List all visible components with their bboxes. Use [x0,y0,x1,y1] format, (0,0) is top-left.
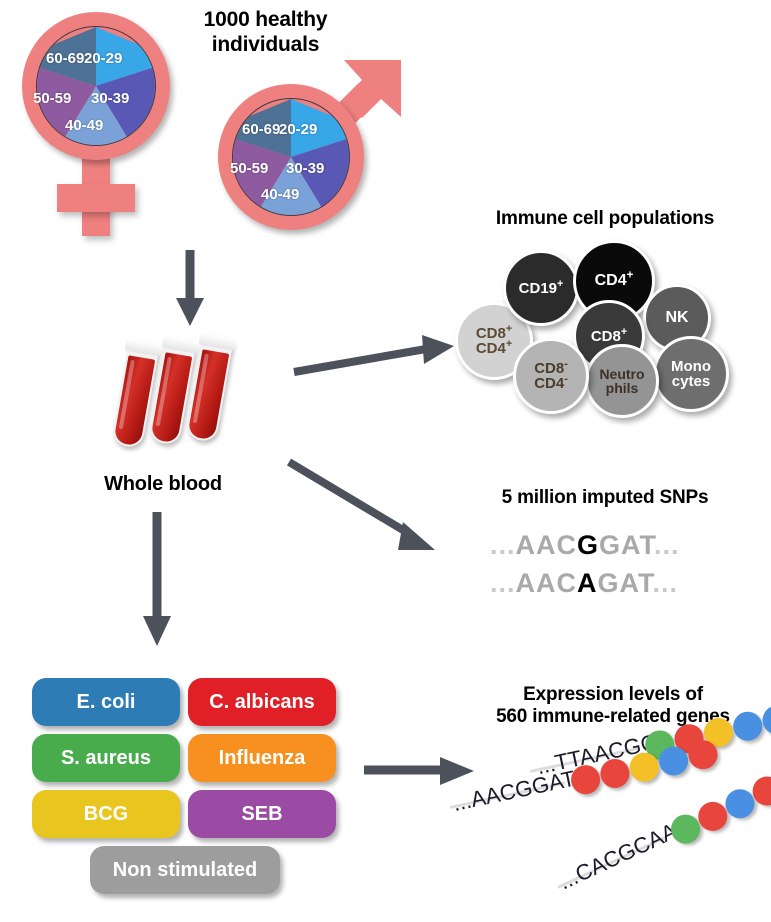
stimulation-c-albicans[interactable]: C. albicans [188,678,336,726]
cohort-title: 1000 healthy individuals [168,8,363,58]
snp-suffix: ... [653,568,679,598]
dp-line2: CD4 [476,340,506,357]
whole-blood-label: Whole blood [78,473,248,497]
stimulation-non-stimulated[interactable]: Non stimulated [90,846,280,894]
snp-left: AAC [516,530,578,560]
male-gender-symbol: 20-29 30-39 40-49 50-59 60-69 [205,55,405,245]
immune-cell-monocytes: Mono cytes [653,336,729,412]
stimulation-s-aureus[interactable]: S. aureus [32,734,180,782]
snps-sequences: ...AACGGAT... ...AACAGAT... [490,530,740,615]
snp-sequence-line: ...AACGGAT... [490,530,680,561]
cd19-text: CD19 [519,280,557,297]
expression-strands: ...TTAACGG ...AACGGAT ...CACGCAA [440,740,771,920]
snp-prefix: ... [490,530,516,560]
male-pie-label-50-59: 50-59 [230,160,268,177]
male-pie-label-40-49: 40-49 [261,186,299,203]
immune-cell-label: Neutro phils [599,367,644,395]
dn-line2: CD4 [534,375,564,392]
female-symbol-crossbar [57,184,135,212]
dp-sup1: + [506,323,512,335]
snp-suffix: ... [654,530,680,560]
cd4-text: CD4 [595,272,627,289]
snp-highlight: G [577,530,599,560]
stimulation-e-coli[interactable]: E. coli [32,678,180,726]
arrow-blood-to-immune [290,325,470,395]
immune-cell-cd8neg-cd4neg: CD8- CD4- [513,338,589,414]
female-pie-label-60-69: 60-69 [46,50,84,67]
female-pie-label-30-39: 30-39 [91,90,129,107]
male-pie-label-30-39: 30-39 [286,160,324,177]
stimulation-bcg[interactable]: BCG [32,790,180,838]
immune-cell-label: CD8+ CD4+ [476,326,512,356]
stimulation-seb[interactable]: SEB [188,790,336,838]
cohort-title-line1: 1000 healthy [168,8,363,33]
strand-sequence: ...CACGCAA [555,818,681,895]
arrow-blood-to-snps [285,440,465,560]
immune-cell-title: Immune cell populations [450,208,760,230]
gene-dot [686,738,720,772]
immune-cell-cd19pos: CD19+ [503,250,579,326]
snps-title: 5 million imputed SNPs [455,487,755,509]
gene-dot [760,703,771,737]
cohort-title-line2: individuals [168,33,363,58]
immune-cell-label: Mono cytes [671,359,711,389]
mono-line2: cytes [672,373,710,390]
immune-cell-label: CD8- CD4- [534,361,568,391]
male-pie-label-60-69: 60-69 [242,121,280,138]
dn-sup2: - [564,373,568,385]
male-pie-label-20-29: 20-29 [279,121,317,138]
female-pie-label-40-49: 40-49 [65,117,103,134]
immune-cell-label: CD19+ [519,281,564,296]
female-pie-label-50-59: 50-59 [33,90,71,107]
immune-cell-cluster: CD8+ CD4+ CD19+ CD4+ NK CD8+ [455,240,755,420]
dn-sup1: - [564,358,568,370]
immune-cell-neutrophils: Neutro phils [585,344,659,418]
cd19-sup: + [557,278,563,290]
cd8-sup: + [621,326,627,338]
expression-title-line1: Expression levels of [463,684,763,706]
stimulation-panel: E. coli C. albicans S. aureus Influenza … [32,678,342,898]
arrow-cohort-to-blood [170,250,210,330]
dp-sup2: + [506,338,512,350]
immune-cell-label: CD8+ [591,329,627,344]
figure-canvas: 1000 healthy individuals 20-29 30-39 40-… [0,0,771,922]
snp-right: GAT [598,568,653,598]
immune-cell-label: NK [665,310,688,326]
gene-dot [731,709,765,743]
snp-sequence-line: ...AACAGAT... [490,568,678,599]
arrow-blood-to-stimulations [137,512,177,652]
cd8-text: CD8 [591,328,621,345]
snp-prefix: ... [490,568,516,598]
gene-dot [598,756,632,790]
snp-right: GAT [599,530,654,560]
cd4-sup: + [627,270,634,282]
gene-dot [656,744,690,778]
female-pie-label-20-29: 20-29 [84,50,122,67]
strand-sequence: ...AACGGAT [451,766,578,817]
snp-highlight: A [577,568,598,598]
female-gender-symbol: 20-29 30-39 40-49 50-59 60-69 [10,8,195,238]
whole-blood-tubes [118,335,248,455]
snp-left: AAC [516,568,578,598]
gene-dot [627,750,661,784]
immune-cell-label: CD4+ [595,273,634,289]
neut-line2: phils [606,380,639,396]
stimulation-influenza[interactable]: Influenza [188,734,336,782]
